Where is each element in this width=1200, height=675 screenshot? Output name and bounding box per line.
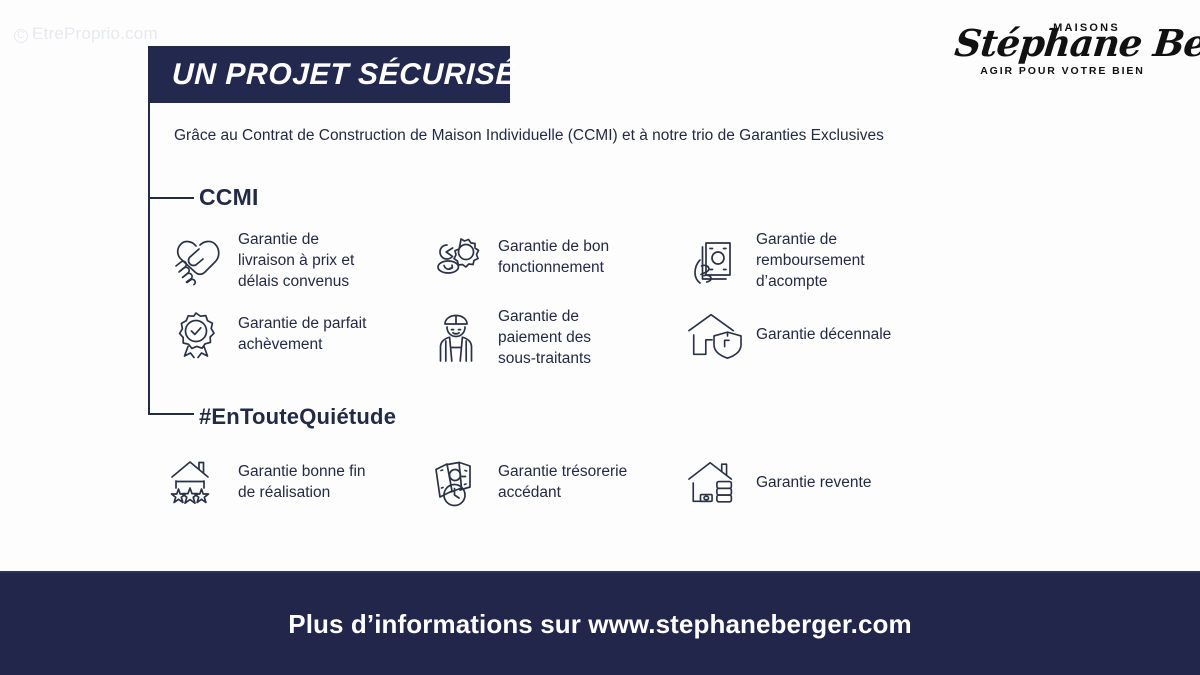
watermark: CEtreProprio.com [14, 24, 158, 44]
logo-tagline: AGIR POUR VOTRE BIEN [955, 65, 1170, 77]
footer-bar: Plus d’informations sur www.stephaneberg… [0, 571, 1200, 675]
guarantee-item-remboursement[interactable]: Garantie de remboursement d’acompte [686, 230, 865, 293]
brand-logo: MAISONS Stéphane Berger AGIR POUR VOTRE … [955, 22, 1170, 77]
house-stars-icon [168, 455, 224, 511]
copyright-icon: C [14, 29, 28, 43]
house-shield-icon [686, 307, 742, 363]
guarantee-item-tresorerie[interactable]: Garantie trésorerie accédant [428, 455, 627, 511]
guarantee-label: Garantie de paiement des sous-traitants [498, 307, 591, 370]
guarantee-label: Garantie de parfait achèvement [238, 314, 366, 356]
guarantee-item-sous-traitants[interactable]: Garantie de paiement des sous-traitants [428, 307, 591, 370]
guarantee-item-livraison[interactable]: Garantie de livraison à prix et délais c… [168, 230, 354, 293]
logo-top-label: MAISONS [1003, 22, 1170, 34]
gears-icon [428, 230, 484, 286]
house-coins-icon [686, 455, 742, 511]
guarantee-label: Garantie trésorerie accédant [498, 462, 627, 504]
guarantee-label: Garantie de remboursement d’acompte [756, 230, 865, 293]
guarantee-label: Garantie revente [756, 473, 871, 494]
guarantee-item-revente[interactable]: Garantie revente [686, 455, 871, 511]
award-check-icon [168, 307, 224, 363]
guarantee-label: Garantie bonne fin de réalisation [238, 462, 366, 504]
section-heading-quietude: #EnTouteQuiétude [199, 404, 396, 430]
title-banner: UN PROJET SÉCURISÉ [148, 46, 510, 103]
banknotes-clock-icon [428, 455, 484, 511]
guarantee-label: Garantie de bon fonctionnement [498, 237, 609, 279]
watermark-label: EtreProprio.com [32, 24, 158, 43]
guarantee-item-parfait-achevement[interactable]: Garantie de parfait achèvement [168, 307, 366, 363]
construction-worker-icon [428, 310, 484, 366]
page-title: UN PROJET SÉCURISÉ [171, 58, 516, 92]
section-heading-ccmi: CCMI [199, 184, 259, 211]
subtitle-text: Grâce au Contrat de Construction de Mais… [174, 127, 884, 145]
hand-banknotes-icon [686, 233, 742, 289]
guarantee-item-decennale[interactable]: Garantie décennale [686, 307, 891, 363]
slide-root: CEtreProprio.com MAISONS Stéphane Berger… [0, 0, 1200, 675]
guarantee-item-bonne-fin[interactable]: Garantie bonne fin de réalisation [168, 455, 366, 511]
guarantee-label: Garantie décennale [756, 325, 891, 346]
guarantee-item-bon-fonctionnement[interactable]: Garantie de bon fonctionnement [428, 230, 609, 286]
handshake-icon [168, 233, 224, 289]
guarantee-label: Garantie de livraison à prix et délais c… [238, 230, 354, 293]
footer-text: Plus d’informations sur www.stephaneberg… [288, 609, 911, 640]
